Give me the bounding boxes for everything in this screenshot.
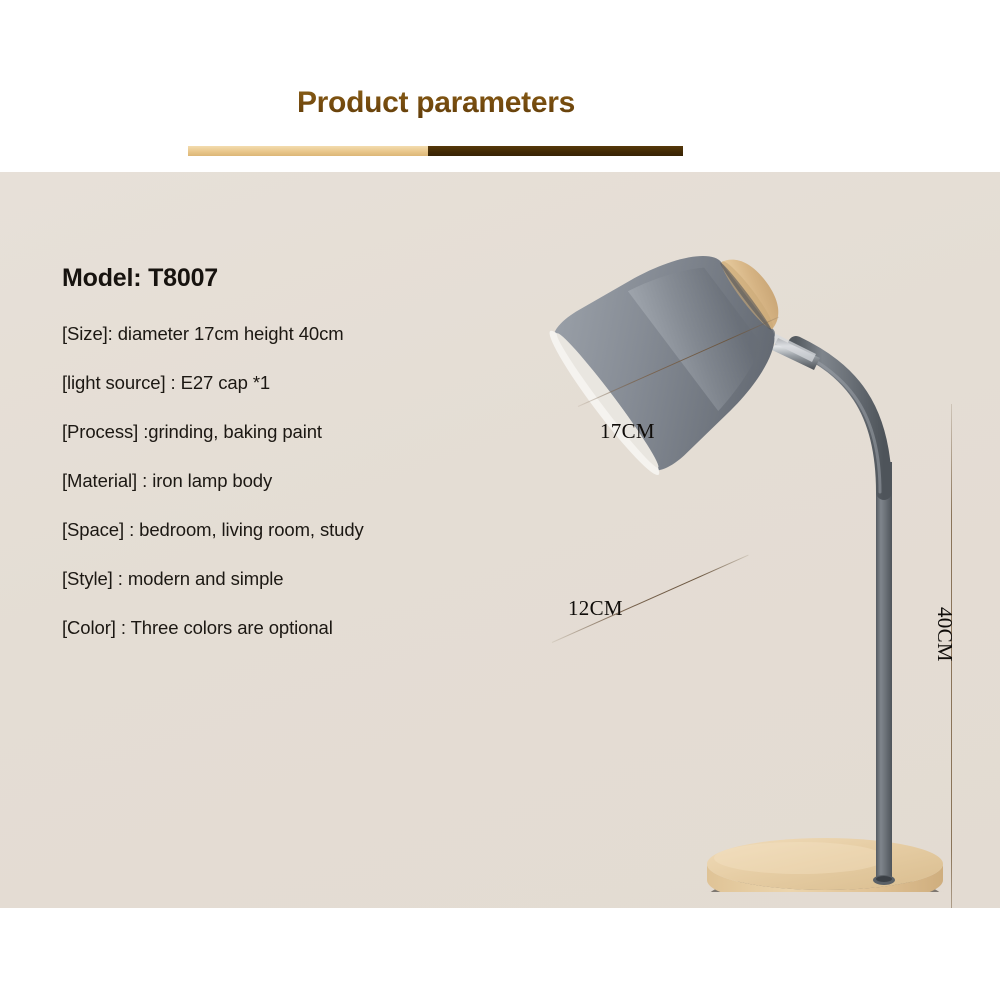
spec-item-process: [Process] :grinding, baking paint	[62, 421, 482, 443]
spec-item-size: [Size]: diameter 17cm height 40cm	[62, 323, 482, 345]
specification-list: Model: T8007 [Size]: diameter 17cm heigh…	[62, 264, 482, 639]
pole-collar-inner	[876, 876, 892, 882]
dimension-label-total-height: 40CM	[932, 607, 957, 662]
spec-item-color: [Color] : Three colors are optional	[62, 617, 482, 639]
title-divider-left-segment	[188, 146, 428, 156]
spec-item-light-source: [light source] : E27 cap *1	[62, 372, 482, 394]
dimension-label-shade-height: 12CM	[568, 596, 623, 621]
model-heading: Model: T8007	[62, 264, 482, 293]
title-divider-bar	[188, 146, 683, 156]
spec-item-space: [Space] : bedroom, living room, study	[62, 519, 482, 541]
spec-item-material: [Material] : iron lamp body	[62, 470, 482, 492]
title-divider-right-segment	[428, 146, 683, 156]
spec-item-style: [Style] : modern and simple	[62, 568, 482, 590]
base-top-sheen	[714, 842, 886, 874]
product-parameters-page: Product parameters Model: T8007 [Size]: …	[0, 0, 1000, 1000]
page-title: Product parameters	[0, 86, 872, 120]
lamp-pole	[876, 462, 892, 882]
content-panel: Model: T8007 [Size]: diameter 17cm heigh…	[0, 172, 1000, 908]
header: Product parameters	[0, 0, 1000, 172]
dimension-label-shade-diameter: 17CM	[600, 419, 655, 444]
desk-lamp-photo	[520, 192, 990, 892]
